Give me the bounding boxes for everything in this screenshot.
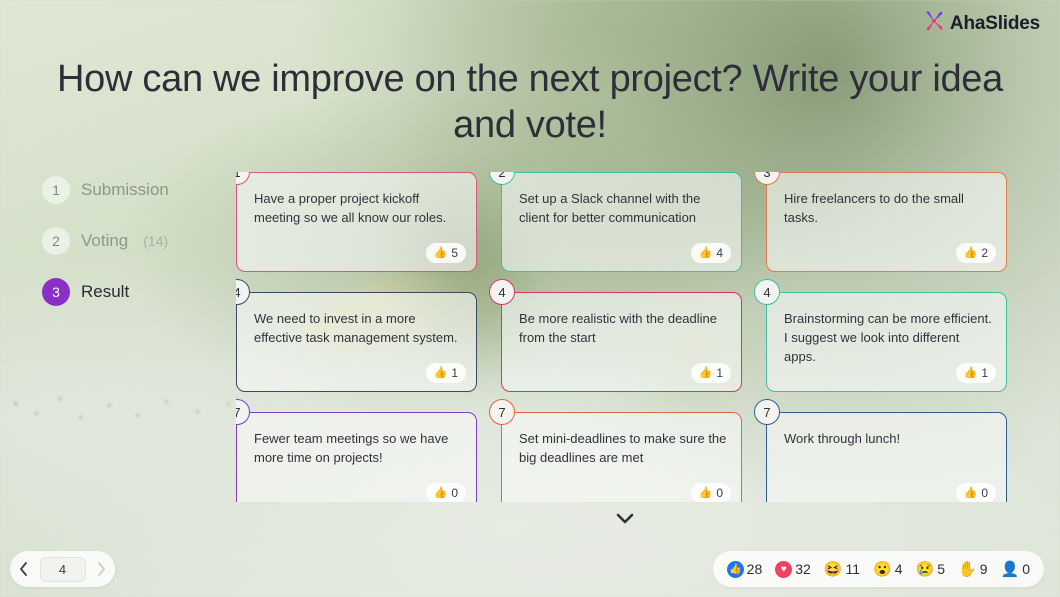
reactions-bar[interactable]: 👍 28 ♥ 32 😆 11 😮 4 😢 5 ✋ 9 👤 0 [713, 551, 1044, 587]
vote-count: 5 [451, 246, 458, 260]
vote-count-pill[interactable]: 👍 4 [691, 243, 731, 263]
stage-steps: 1 Submission 2 Voting (14) 3 Result [42, 172, 222, 325]
idea-text: Have a proper project kickoff meeting so… [254, 189, 462, 227]
ahaslides-logo: AhaSlides [923, 10, 1040, 37]
reaction-surprised[interactable]: 😮 4 [873, 561, 902, 577]
rank-badge: 7 [489, 399, 515, 425]
rank-badge: 7 [754, 399, 780, 425]
background-texture [0, 385, 260, 431]
rank-badge: 4 [236, 279, 250, 305]
reaction-count: 9 [980, 561, 988, 577]
thumbs-up-icon: 👍 [964, 248, 978, 259]
reaction-count: 4 [895, 561, 903, 577]
reaction-count: 5 [937, 561, 945, 577]
idea-text: We need to invest in a more effective ta… [254, 309, 462, 347]
ideas-row: 1 Have a proper project kickoff meeting … [236, 172, 1026, 272]
ahaslides-butterfly-icon [923, 10, 945, 37]
thumbs-up-icon: 👍 [434, 488, 448, 499]
vote-count-pill[interactable]: 👍 1 [691, 363, 731, 383]
idea-text: Hire freelancers to do the small tasks. [784, 189, 992, 227]
thumbs-up-icon: 👍 [964, 368, 978, 379]
idea-card[interactable]: 1 Have a proper project kickoff meeting … [236, 172, 477, 272]
vote-count: 4 [716, 246, 723, 260]
vote-count-pill[interactable]: 👍 0 [426, 483, 466, 502]
thumbs-up-icon: 👍 [964, 488, 978, 499]
voting-count: (14) [143, 233, 168, 249]
participant-count[interactable]: 👤 0 [1001, 561, 1030, 577]
logo-wordmark: AhaSlides [950, 13, 1040, 35]
reaction-count: 0 [1022, 561, 1030, 577]
idea-text: Set up a Slack channel with the client f… [519, 189, 727, 227]
page-number[interactable]: 4 [40, 557, 86, 582]
step-label: Voting [81, 231, 128, 251]
reaction-raised-hand[interactable]: ✋ 9 [958, 561, 987, 577]
idea-text: Fewer team meetings so we have more time… [254, 429, 462, 467]
idea-card[interactable]: 7 Work through lunch! 👍 0 [766, 412, 1007, 502]
ideas-grid[interactable]: 1 Have a proper project kickoff meeting … [236, 172, 1026, 502]
vote-count: 1 [981, 366, 988, 380]
chevron-down-icon[interactable] [614, 508, 636, 530]
thumbs-up-reaction-icon: 👍 [727, 561, 744, 578]
rank-badge: 4 [489, 279, 515, 305]
thumbs-up-icon: 👍 [699, 248, 713, 259]
idea-text: Set mini-deadlines to make sure the big … [519, 429, 727, 467]
step-number: 1 [42, 176, 70, 204]
surprised-reaction-icon: 😮 [873, 562, 892, 577]
vote-count: 2 [981, 246, 988, 260]
idea-card[interactable]: 4 Be more realistic with the deadline fr… [501, 292, 742, 392]
rank-badge: 7 [236, 399, 250, 425]
vote-count: 0 [451, 486, 458, 500]
idea-card[interactable]: 4 We need to invest in a more effective … [236, 292, 477, 392]
idea-card[interactable]: 3 Hire freelancers to do the small tasks… [766, 172, 1007, 272]
participant-count-icon: 👤 [1001, 562, 1020, 577]
rank-badge: 4 [754, 279, 780, 305]
vote-count: 1 [716, 366, 723, 380]
reaction-count: 32 [795, 561, 811, 577]
idea-card[interactable]: 7 Fewer team meetings so we have more ti… [236, 412, 477, 502]
vote-count: 0 [716, 486, 723, 500]
step-result[interactable]: 3 Result [42, 274, 222, 310]
laughing-reaction-icon: 😆 [824, 562, 843, 577]
reaction-laughing[interactable]: 😆 11 [824, 561, 860, 577]
thumbs-up-icon: 👍 [434, 248, 448, 259]
vote-count-pill[interactable]: 👍 1 [426, 363, 466, 383]
idea-text: Work through lunch! [784, 429, 992, 448]
pagination[interactable]: 4 [10, 551, 115, 587]
vote-count-pill[interactable]: 👍 5 [426, 243, 466, 263]
slide-title: How can we improve on the next project? … [50, 56, 1010, 148]
step-voting[interactable]: 2 Voting (14) [42, 223, 222, 259]
vote-count-pill[interactable]: 👍 0 [956, 483, 996, 502]
rank-badge: 2 [489, 172, 515, 185]
step-submission[interactable]: 1 Submission [42, 172, 222, 208]
idea-card[interactable]: 7 Set mini-deadlines to make sure the bi… [501, 412, 742, 502]
chevron-left-icon[interactable] [12, 557, 36, 581]
vote-count-pill[interactable]: 👍 0 [691, 483, 731, 502]
vote-count: 0 [981, 486, 988, 500]
idea-text: Be more realistic with the deadline from… [519, 309, 727, 347]
reaction-sad[interactable]: 😢 5 [916, 561, 945, 577]
idea-text: Brainstorming can be more efficient. I s… [784, 309, 992, 366]
step-number: 2 [42, 227, 70, 255]
reaction-count: 11 [846, 561, 861, 577]
reaction-count: 28 [747, 561, 763, 577]
thumbs-up-icon: 👍 [434, 368, 448, 379]
vote-count: 1 [451, 366, 458, 380]
presentation-slide: AhaSlides How can we improve on the next… [0, 0, 1060, 597]
reaction-thumbs-up[interactable]: 👍 28 [727, 561, 763, 578]
rank-badge: 3 [754, 172, 780, 185]
thumbs-up-icon: 👍 [699, 488, 713, 499]
step-label: Result [81, 282, 129, 302]
ideas-row: 4 We need to invest in a more effective … [236, 292, 1026, 392]
ideas-row: 7 Fewer team meetings so we have more ti… [236, 412, 1026, 502]
step-label: Submission [81, 180, 169, 200]
sad-reaction-icon: 😢 [916, 562, 935, 577]
thumbs-up-icon: 👍 [699, 368, 713, 379]
rank-badge: 1 [236, 172, 250, 185]
chevron-right-icon [90, 557, 114, 581]
step-number: 3 [42, 278, 70, 306]
vote-count-pill[interactable]: 👍 2 [956, 243, 996, 263]
idea-card[interactable]: 2 Set up a Slack channel with the client… [501, 172, 742, 272]
idea-card[interactable]: 4 Brainstorming can be more efficient. I… [766, 292, 1007, 392]
heart-reaction-icon: ♥ [775, 561, 792, 578]
vote-count-pill[interactable]: 👍 1 [956, 363, 996, 383]
reaction-heart[interactable]: ♥ 32 [775, 561, 811, 578]
raised-hand-reaction-icon: ✋ [958, 562, 977, 577]
